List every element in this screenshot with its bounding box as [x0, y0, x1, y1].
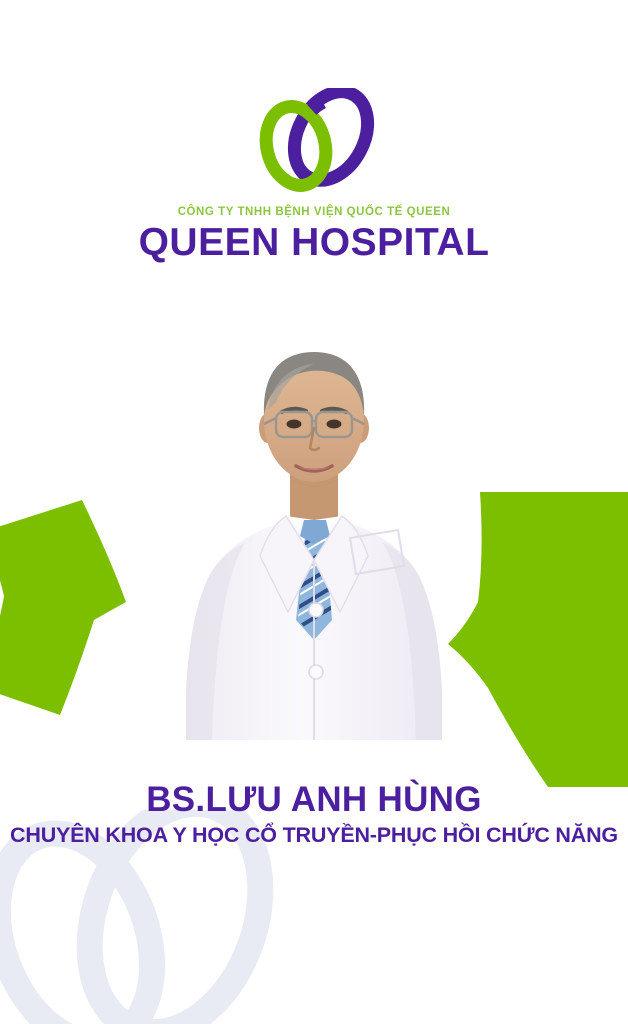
interlocking-rings-logo-icon — [234, 88, 394, 200]
chevron-right-accent-icon — [0, 500, 172, 715]
doctor-portrait — [164, 320, 464, 740]
doctor-name: BS.LƯU ANH HÙNG — [0, 782, 628, 819]
coat-button — [309, 665, 323, 679]
doctor-profile-card: CÔNG TY TNHH BỆNH VIỆN QUỐC TẾ QUEEN QUE… — [0, 0, 628, 1024]
coat-button — [309, 603, 323, 617]
doctor-specialty: CHUYÊN KHOA Y HỌC CỔ TRUYỀN-PHỤC HỒI CHỨ… — [0, 824, 628, 848]
brand-logo-block: CÔNG TY TNHH BỆNH VIỆN QUỐC TẾ QUEEN QUE… — [0, 88, 628, 265]
chevron-left-accent-icon — [448, 492, 628, 787]
brand-tagline: CÔNG TY TNHH BỆNH VIỆN QUỐC TẾ QUEEN — [178, 206, 451, 218]
doctor-info-block: BS.LƯU ANH HÙNG CHUYÊN KHOA Y HỌC CỔ TRU… — [0, 782, 628, 847]
brand-title: QUEEN HOSPITAL — [139, 221, 490, 265]
